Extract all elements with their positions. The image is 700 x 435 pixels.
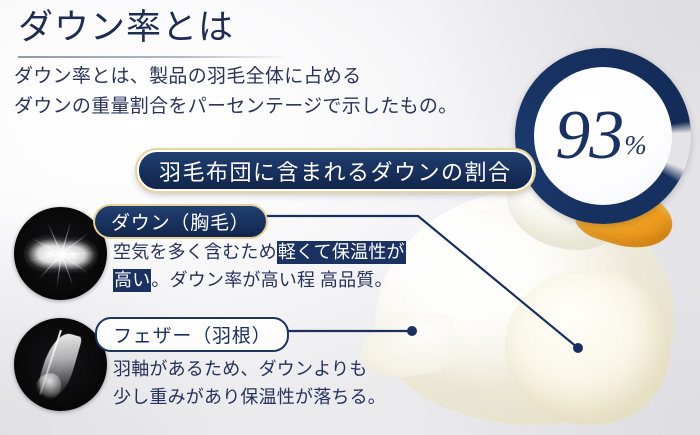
page-title: ダウン率とは [18, 6, 234, 50]
feather-description-line-1: 羽軸があるため、ダウンよりも [113, 355, 386, 383]
title-underline [18, 56, 284, 58]
badge-inner-disc: 93 % [534, 67, 672, 205]
label-down: ダウン（胸毛） [95, 206, 266, 237]
down-ratio-badge: 93 % [515, 48, 691, 224]
down-text-highlight-1: 軽くて保温性が [277, 241, 406, 264]
duck-breast [505, 270, 670, 425]
feather-description-line-2: 少し重みがあり保温性が落ちる。 [113, 383, 386, 411]
down-description-line-1: 空気を多く含むため軽くて保温性が [113, 238, 406, 266]
down-text-plain: 空気を多く含むため [113, 242, 277, 262]
down-text-highlight-2: 高い [113, 269, 151, 292]
lead-line-2: ダウンの重量割合をパーセンテージで示したもの。 [14, 92, 458, 122]
badge-percent-sign: % [624, 130, 647, 161]
down-description-line-2: 高い。ダウン率が高い程 高品質。 [113, 266, 406, 294]
lead-line-1: ダウン率とは、製品の羽毛全体に占める [14, 62, 458, 92]
lead-paragraph: ダウン率とは、製品の羽毛全体に占める ダウンの重量割合をパーセンテージで示したも… [14, 62, 458, 122]
down-cluster-photo [14, 207, 107, 300]
feather-photo [14, 318, 107, 411]
down-description: 空気を多く含むため軽くて保温性が 高い。ダウン率が高い程 高品質。 [113, 238, 406, 294]
down-ratio-infographic: ダウン率とは ダウン率とは、製品の羽毛全体に占める ダウンの重量割合をパーセンテ… [0, 0, 700, 435]
label-feather: フェザー（羽根） [95, 317, 289, 352]
banner-down-ratio: 羽毛布団に含まれるダウンの割合 [137, 150, 534, 191]
badge-number: 93 [555, 101, 623, 171]
down-text-rest: 。ダウン率が高い程 高品質。 [151, 270, 392, 290]
feather-description: 羽軸があるため、ダウンよりも 少し重みがあり保温性が落ちる。 [113, 355, 386, 411]
